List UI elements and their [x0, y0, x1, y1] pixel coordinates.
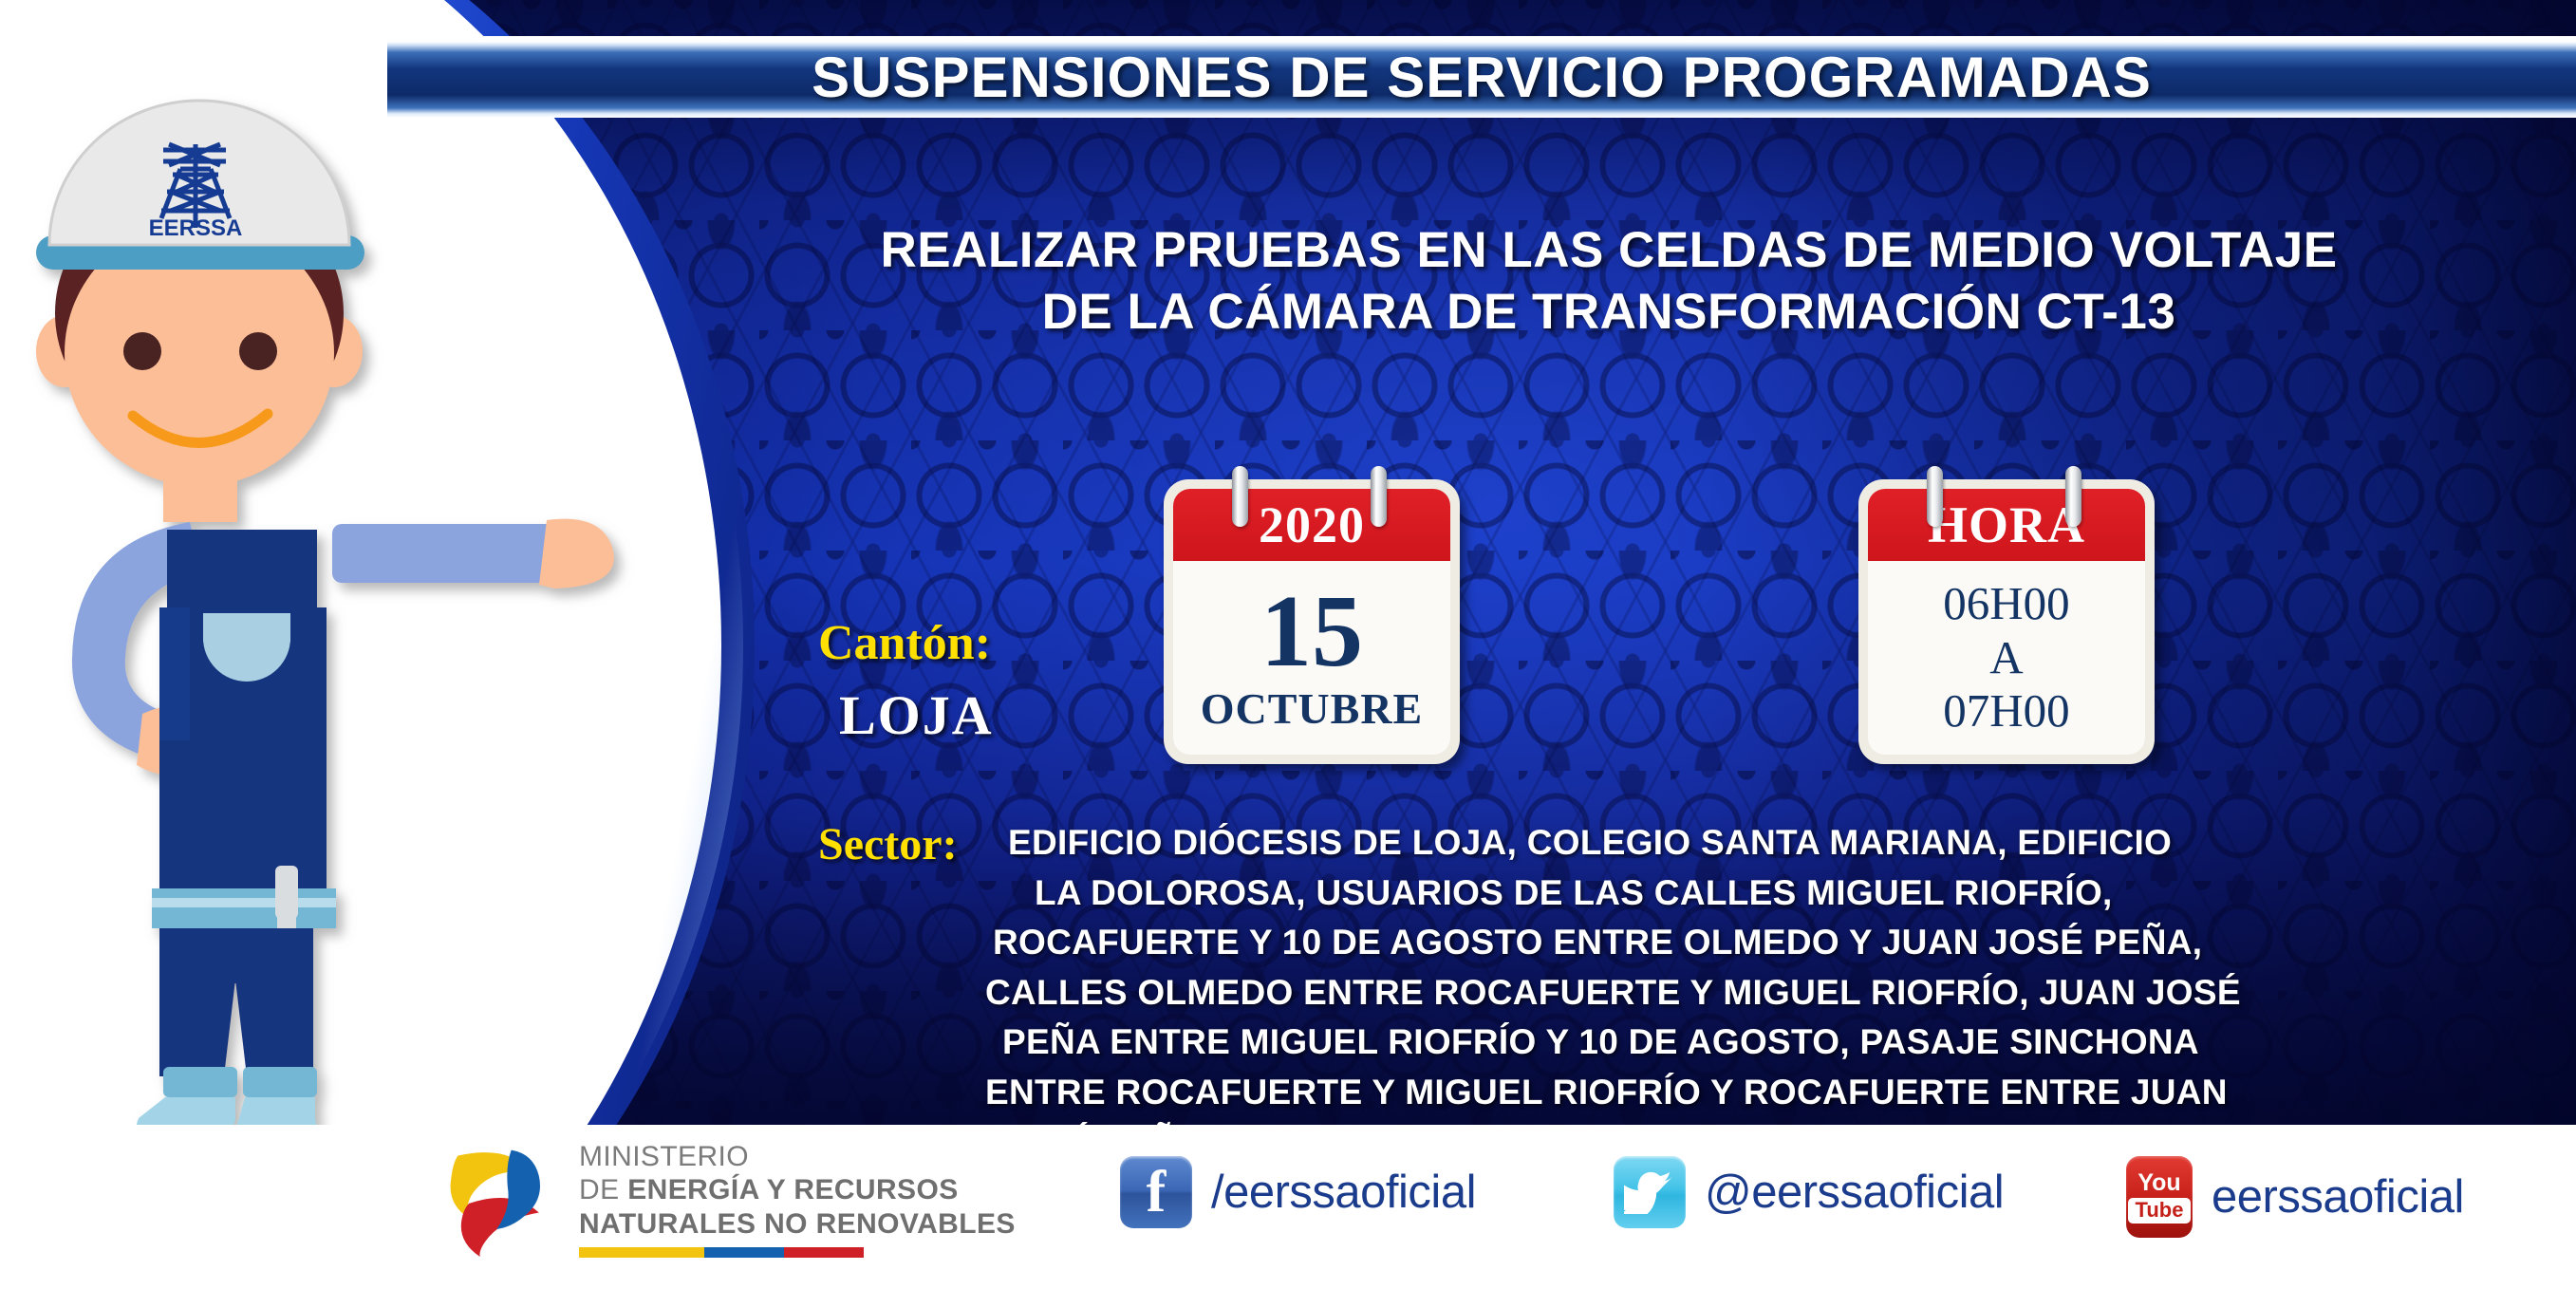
worker-mascot-illustration: EERSSA: [0, 76, 664, 1139]
calendar-day-number: 15: [1260, 582, 1363, 682]
sector-line: LA DOLOROSA, USUARIOS DE LAS CALLES MIGU…: [1035, 869, 2498, 919]
youtube-icon[interactable]: You Tube: [2126, 1156, 2193, 1238]
hour-separator: A: [1989, 631, 2023, 685]
ecuador-flag-bar: [579, 1247, 864, 1258]
hour-calendar-card: HORA 06H00 A 07H00: [1858, 479, 2155, 764]
ministry-line-2-light: DE: [579, 1174, 627, 1205]
notice-subtitle: REALIZAR PRUEBAS EN LAS CELDAS DE MEDIO …: [721, 220, 2496, 343]
calendar-month-name: OCTUBRE: [1201, 683, 1423, 734]
twitter-bird-glyph: [1624, 1170, 1675, 1214]
ministry-text-block: MINISTERIO DE ENERGÍA Y RECURSOS NATURAL…: [579, 1140, 1016, 1257]
flag-blue-stripe: [704, 1247, 784, 1258]
flag-red-stripe: [784, 1247, 864, 1258]
ministry-emblem-icon: [446, 1139, 558, 1259]
subtitle-line-1: REALIZAR PRUEBAS EN LAS CELDAS DE MEDIO …: [721, 220, 2496, 282]
sector-line: ROCAFUERTE Y 10 DE AGOSTO ENTRE OLMEDO Y…: [993, 918, 2498, 968]
helmet-logo-text: EERSSA: [149, 215, 243, 241]
social-facebook[interactable]: /eerssaoficial: [1120, 1156, 1476, 1228]
date-calendar-card: 2020 15 OCTUBRE: [1164, 479, 1460, 764]
facebook-handle[interactable]: /eerssaoficial: [1211, 1166, 1476, 1219]
sector-line: CALLES OLMEDO ENTRE ROCAFUERTE Y MIGUEL …: [985, 968, 2498, 1018]
subtitle-line-2: DE LA CÁMARA DE TRANSFORMACIÓN CT-13: [721, 282, 2496, 344]
page-title: SUSPENSIONES DE SERVICIO PROGRAMADAS: [387, 36, 2576, 118]
sector-line: EDIFICIO DIÓCESIS DE LOJA, COLEGIO SANTA…: [1008, 818, 2498, 869]
youtube-handle[interactable]: eerssaoficial: [2212, 1170, 2464, 1224]
social-youtube[interactable]: You Tube eerssaoficial: [2126, 1156, 2464, 1238]
sector-description: EDIFICIO DIÓCESIS DE LOJA, COLEGIO SANTA…: [1008, 818, 2498, 1168]
youtube-logo-top: You: [2137, 1171, 2180, 1195]
ministry-line-3: NATURALES NO RENOVABLES: [579, 1207, 1016, 1241]
calendar-year: 2020: [1173, 489, 1450, 561]
hour-end: 07H00: [1943, 684, 2069, 738]
social-twitter[interactable]: @eerssaoficial: [1614, 1156, 2004, 1228]
flag-yellow-stripe: [579, 1247, 704, 1258]
twitter-icon[interactable]: [1614, 1156, 1686, 1228]
ministry-line-2-bold: ENERGÍA Y RECURSOS: [627, 1174, 958, 1205]
twitter-handle[interactable]: @eerssaoficial: [1705, 1166, 2004, 1219]
facebook-icon[interactable]: [1120, 1156, 1192, 1228]
ministry-logo-block: MINISTERIO DE ENERGÍA Y RECURSOS NATURAL…: [446, 1139, 1016, 1259]
sector-line: ENTRE ROCAFUERTE Y MIGUEL RIOFRÍO Y ROCA…: [985, 1068, 2498, 1118]
ministry-line-2: DE ENERGÍA Y RECURSOS: [579, 1173, 1016, 1206]
hour-start: 06H00: [1943, 577, 2069, 631]
youtube-logo-bottom: Tube: [2128, 1198, 2192, 1224]
sector-label: Sector:: [818, 818, 958, 870]
hour-calendar-header: HORA: [1868, 489, 2145, 561]
ministry-line-1: MINISTERIO: [579, 1140, 1016, 1173]
canton-label: Cantón:: [818, 615, 991, 671]
suspension-notice-poster: EERSSA: [0, 0, 2576, 1289]
sector-line: PEÑA ENTRE MIGUEL RIOFRÍO Y 10 DE AGOSTO…: [1002, 1018, 2498, 1068]
canton-value: LOJA: [839, 683, 994, 747]
